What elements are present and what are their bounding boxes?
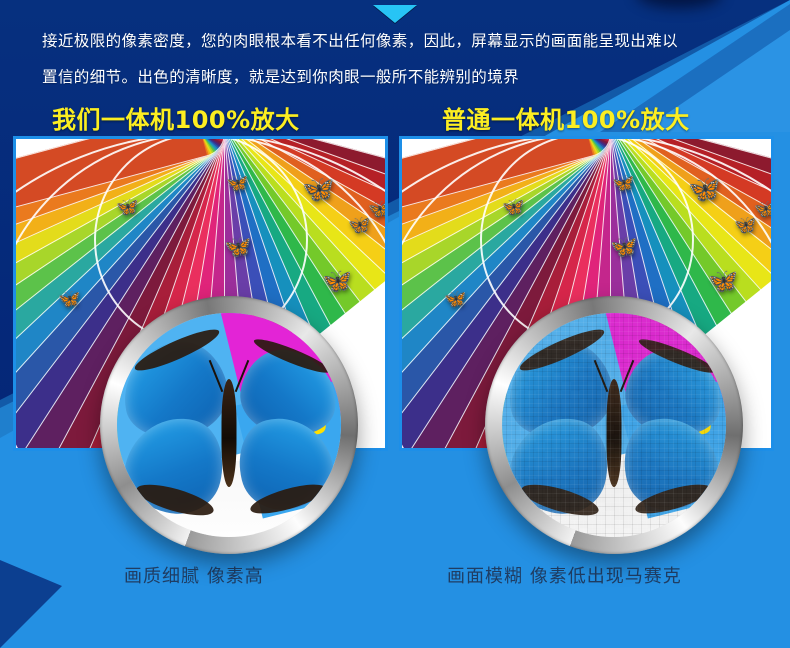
mosaic-cell <box>657 347 666 356</box>
mosaic-cell <box>657 339 666 348</box>
mosaic-cell <box>640 365 649 374</box>
mosaic-cell <box>554 425 563 434</box>
mosaic-cell <box>623 477 632 486</box>
mosaic-cell <box>519 511 528 520</box>
mosaic-cell <box>511 434 520 443</box>
mosaic-cell <box>709 434 718 443</box>
mosaic-cell <box>640 451 649 460</box>
mosaic-cell <box>545 494 554 503</box>
mosaic-cell <box>640 494 649 503</box>
mosaic-cell <box>588 494 597 503</box>
mosaic-cell <box>605 399 614 408</box>
mosaic-cell <box>640 442 649 451</box>
mosaic-cell <box>597 373 606 382</box>
mosaic-cell <box>511 416 520 425</box>
mosaic-cell <box>588 382 597 391</box>
mosaic-cell <box>580 451 589 460</box>
butterfly-green-icon: 🦋 <box>688 177 720 203</box>
mosaic-cell <box>700 459 709 468</box>
mosaic-cell <box>666 313 675 322</box>
mosaic-cell <box>528 511 537 520</box>
mosaic-cell <box>692 494 701 503</box>
mosaic-cell <box>588 511 597 520</box>
mosaic-cell <box>554 391 563 400</box>
mosaic-cell <box>614 339 623 348</box>
mosaic-cell <box>709 511 718 520</box>
mosaic-cell <box>717 511 726 520</box>
mosaic-cell <box>605 313 614 322</box>
mosaic-cell <box>588 468 597 477</box>
mosaic-cell <box>648 356 657 365</box>
mosaic-cell <box>674 434 683 443</box>
mosaic-cell <box>614 373 623 382</box>
mosaic-cell <box>605 451 614 460</box>
mosaic-cell <box>640 339 649 348</box>
mosaic-cell <box>623 382 632 391</box>
mosaic-cell <box>674 373 683 382</box>
mosaic-cell <box>648 503 657 512</box>
mosaic-cell <box>562 322 571 331</box>
mosaic-cell <box>692 408 701 417</box>
mosaic-cell <box>648 425 657 434</box>
mosaic-cell <box>631 322 640 331</box>
mosaic-cell <box>502 494 511 503</box>
mosaic-cell <box>631 313 640 322</box>
mosaic-cell <box>614 347 623 356</box>
mosaic-cell <box>640 503 649 512</box>
mosaic-cell <box>717 477 726 486</box>
mosaic-cell <box>657 425 666 434</box>
butterfly-purple-icon: 🦋 <box>58 291 80 309</box>
mosaic-cell <box>528 382 537 391</box>
mosaic-cell <box>580 425 589 434</box>
mosaic-cell <box>536 313 545 322</box>
mosaic-cell <box>554 477 563 486</box>
mosaic-cell <box>692 477 701 486</box>
mosaic-cell <box>519 408 528 417</box>
mosaic-cell <box>657 520 666 529</box>
mosaic-cell <box>692 382 701 391</box>
mosaic-cell <box>692 511 701 520</box>
mosaic-cell <box>545 477 554 486</box>
mosaic-cell <box>554 399 563 408</box>
mosaic-cell <box>631 373 640 382</box>
mosaic-cell <box>683 365 692 374</box>
mosaic-cell <box>709 451 718 460</box>
mosaic-cell <box>511 451 520 460</box>
mosaic-cell <box>683 382 692 391</box>
mosaic-cell <box>674 365 683 374</box>
mosaic-cell <box>683 494 692 503</box>
mosaic-cell <box>683 503 692 512</box>
mosaic-cell <box>614 416 623 425</box>
mosaic-cell <box>700 391 709 400</box>
mosaic-cell <box>709 399 718 408</box>
mosaic-cell <box>519 416 528 425</box>
mosaic-cell <box>657 459 666 468</box>
mosaic-cell <box>536 416 545 425</box>
mosaic-cell <box>648 330 657 339</box>
mosaic-cell <box>580 313 589 322</box>
mosaic-cell <box>692 468 701 477</box>
mosaic-cell <box>631 451 640 460</box>
mosaic-cell <box>554 313 563 322</box>
mosaic-cell <box>545 399 554 408</box>
mosaic-cell <box>511 485 520 494</box>
mosaic-cell <box>545 528 554 537</box>
mosaic-cell <box>700 408 709 417</box>
mosaic-cell <box>511 520 520 529</box>
mosaic-cell <box>614 528 623 537</box>
mosaic-cell <box>528 459 537 468</box>
mosaic-cell <box>683 339 692 348</box>
mosaic-cell <box>640 528 649 537</box>
mosaic-cell <box>709 408 718 417</box>
mosaic-cell <box>554 494 563 503</box>
mosaic-cell <box>511 347 520 356</box>
mosaic-cell <box>571 399 580 408</box>
mosaic-cell <box>571 520 580 529</box>
mosaic-cell <box>545 468 554 477</box>
headline-line-2: 置信的细节。出色的清晰度，就是达到你肉眼一般所不能辨别的境界 <box>42 59 760 95</box>
mosaic-cell <box>571 434 580 443</box>
mosaic-cell <box>536 391 545 400</box>
mosaic-cell <box>692 313 701 322</box>
mosaic-cell <box>631 365 640 374</box>
lens-butterfly-blue-icon <box>121 339 337 519</box>
mosaic-cell <box>511 528 520 537</box>
mosaic-cell <box>554 330 563 339</box>
mosaic-cell <box>717 391 726 400</box>
mosaic-overlay <box>502 313 726 537</box>
mosaic-cell <box>666 459 675 468</box>
mosaic-cell <box>597 365 606 374</box>
butterfly-yellow2-icon: 🦋 <box>502 199 524 217</box>
mosaic-cell <box>631 485 640 494</box>
mosaic-cell <box>588 322 597 331</box>
mosaic-cell <box>640 408 649 417</box>
mosaic-cell <box>519 330 528 339</box>
mosaic-cell <box>674 520 683 529</box>
mosaic-cell <box>545 330 554 339</box>
mosaic-cell <box>692 528 701 537</box>
mosaic-cell <box>640 425 649 434</box>
mosaic-cell <box>597 425 606 434</box>
mosaic-cell <box>588 356 597 365</box>
mosaic-cell <box>700 373 709 382</box>
mosaic-cell <box>528 503 537 512</box>
mosaic-cell <box>580 347 589 356</box>
mosaic-cell <box>657 528 666 537</box>
mosaic-cell <box>562 468 571 477</box>
mosaic-cell <box>700 477 709 486</box>
mosaic-cell <box>692 339 701 348</box>
butterfly-orange3-icon: 🦋 <box>754 201 771 219</box>
mosaic-cell <box>528 399 537 408</box>
mosaic-cell <box>717 485 726 494</box>
mosaic-cell <box>674 494 683 503</box>
mosaic-cell <box>597 356 606 365</box>
mosaic-cell <box>562 485 571 494</box>
mosaic-cell <box>519 322 528 331</box>
mosaic-cell <box>519 503 528 512</box>
mosaic-cell <box>580 373 589 382</box>
mosaic-cell <box>519 399 528 408</box>
mosaic-cell <box>536 408 545 417</box>
mosaic-cell <box>700 442 709 451</box>
mosaic-cell <box>674 313 683 322</box>
mosaic-cell <box>614 442 623 451</box>
mosaic-cell <box>717 434 726 443</box>
mosaic-cell <box>545 356 554 365</box>
mosaic-cell <box>717 416 726 425</box>
mosaic-cell <box>674 442 683 451</box>
mosaic-cell <box>562 313 571 322</box>
mosaic-cell <box>709 503 718 512</box>
mosaic-cell <box>674 322 683 331</box>
mosaic-cell <box>700 330 709 339</box>
mosaic-cell <box>536 356 545 365</box>
left-lens-glass <box>117 313 341 537</box>
mosaic-cell <box>519 459 528 468</box>
mosaic-cell <box>648 434 657 443</box>
mosaic-cell <box>571 528 580 537</box>
mosaic-cell <box>614 451 623 460</box>
mosaic-cell <box>571 468 580 477</box>
mosaic-cell <box>528 330 537 339</box>
mosaic-cell <box>623 494 632 503</box>
mosaic-cell <box>666 399 675 408</box>
mosaic-cell <box>545 347 554 356</box>
mosaic-cell <box>502 434 511 443</box>
mosaic-cell <box>562 511 571 520</box>
mosaic-cell <box>571 477 580 486</box>
butterfly-purple-icon: 🦋 <box>444 291 466 309</box>
mosaic-cell <box>502 399 511 408</box>
mosaic-cell <box>554 339 563 348</box>
mosaic-cell <box>519 494 528 503</box>
magnifier-lens-icon-right <box>485 296 743 554</box>
mosaic-cell <box>545 425 554 434</box>
mosaic-cell <box>700 520 709 529</box>
mosaic-cell <box>528 408 537 417</box>
mosaic-cell <box>536 485 545 494</box>
mosaic-cell <box>640 485 649 494</box>
mosaic-cell <box>588 339 597 348</box>
mosaic-cell <box>700 339 709 348</box>
mosaic-cell <box>623 365 632 374</box>
mosaic-cell <box>528 494 537 503</box>
mosaic-cell <box>709 391 718 400</box>
mosaic-cell <box>605 330 614 339</box>
mosaic-cell <box>605 356 614 365</box>
mosaic-cell <box>545 459 554 468</box>
mosaic-cell <box>666 382 675 391</box>
mosaic-cell <box>597 347 606 356</box>
mosaic-cell <box>511 425 520 434</box>
mosaic-cell <box>580 408 589 417</box>
mosaic-cell <box>700 494 709 503</box>
mosaic-cell <box>674 528 683 537</box>
mosaic-cell <box>648 416 657 425</box>
mosaic-cell <box>554 347 563 356</box>
mosaic-cell <box>640 330 649 339</box>
mosaic-cell <box>502 468 511 477</box>
mosaic-cell <box>554 442 563 451</box>
mosaic-cell <box>717 339 726 348</box>
mosaic-cell <box>580 468 589 477</box>
mosaic-cell <box>528 528 537 537</box>
mosaic-cell <box>717 520 726 529</box>
mosaic-cell <box>588 425 597 434</box>
mosaic-cell <box>631 528 640 537</box>
mosaic-cell <box>571 494 580 503</box>
mosaic-cell <box>511 330 520 339</box>
mosaic-cell <box>528 468 537 477</box>
mosaic-cell <box>597 322 606 331</box>
mosaic-cell <box>700 468 709 477</box>
mosaic-cell <box>562 356 571 365</box>
mosaic-cell <box>657 322 666 331</box>
mosaic-cell <box>648 494 657 503</box>
mosaic-cell <box>614 330 623 339</box>
mosaic-cell <box>666 425 675 434</box>
mosaic-cell <box>692 399 701 408</box>
mosaic-cell <box>571 442 580 451</box>
mosaic-cell <box>545 408 554 417</box>
right-panel-title: 普通一体机100%放大 <box>442 100 690 135</box>
mosaic-cell <box>580 330 589 339</box>
mosaic-cell <box>631 399 640 408</box>
mosaic-cell <box>562 330 571 339</box>
mosaic-cell <box>709 322 718 331</box>
mosaic-cell <box>588 373 597 382</box>
mosaic-cell <box>588 528 597 537</box>
mosaic-cell <box>502 365 511 374</box>
mosaic-cell <box>648 528 657 537</box>
mosaic-cell <box>709 416 718 425</box>
mosaic-cell <box>717 442 726 451</box>
mosaic-cell <box>536 468 545 477</box>
headline-line-1: 接近极限的像素密度，您的肉眼根本看不出任何像素，因此，屏幕显示的画面能呈现出难以 <box>42 23 760 59</box>
mosaic-cell <box>614 408 623 417</box>
mosaic-cell <box>614 477 623 486</box>
mosaic-cell <box>709 459 718 468</box>
mosaic-cell <box>640 356 649 365</box>
mosaic-cell <box>554 451 563 460</box>
mosaic-cell <box>614 485 623 494</box>
mosaic-cell <box>562 399 571 408</box>
mosaic-cell <box>519 520 528 529</box>
mosaic-cell <box>623 434 632 443</box>
mosaic-cell <box>640 468 649 477</box>
mosaic-cell <box>571 330 580 339</box>
mosaic-cell <box>717 408 726 417</box>
butterfly-orange3-icon: 🦋 <box>368 201 385 219</box>
left-panel-title: 我们一体机100%放大 <box>52 100 300 135</box>
mosaic-cell <box>683 477 692 486</box>
mosaic-cell <box>648 485 657 494</box>
mosaic-cell <box>640 391 649 400</box>
mosaic-cell <box>614 434 623 443</box>
mosaic-cell <box>700 511 709 520</box>
mosaic-cell <box>614 459 623 468</box>
mosaic-cell <box>588 434 597 443</box>
mosaic-cell <box>700 382 709 391</box>
mosaic-cell <box>605 347 614 356</box>
mosaic-cell <box>709 382 718 391</box>
mosaic-cell <box>528 365 537 374</box>
mosaic-cell <box>554 485 563 494</box>
magnifier-lens-icon-left <box>100 296 358 554</box>
mosaic-cell <box>640 511 649 520</box>
mosaic-cell <box>597 494 606 503</box>
mosaic-cell <box>657 391 666 400</box>
mosaic-cell <box>588 520 597 529</box>
mosaic-cell <box>674 382 683 391</box>
mosaic-cell <box>700 425 709 434</box>
mosaic-cell <box>683 373 692 382</box>
mosaic-cell <box>511 408 520 417</box>
mosaic-cell <box>648 520 657 529</box>
mosaic-cell <box>709 425 718 434</box>
mosaic-cell <box>614 468 623 477</box>
butterfly-yellow3-icon: 🦋 <box>226 175 248 193</box>
mosaic-cell <box>511 391 520 400</box>
butterfly-orange-icon: 🦋 <box>322 269 352 293</box>
mosaic-cell <box>545 451 554 460</box>
mosaic-cell <box>597 442 606 451</box>
mosaic-cell <box>657 468 666 477</box>
mosaic-cell <box>666 347 675 356</box>
mosaic-cell <box>709 339 718 348</box>
mosaic-cell <box>648 382 657 391</box>
mosaic-cell <box>571 485 580 494</box>
mosaic-cell <box>631 330 640 339</box>
mosaic-cell <box>502 382 511 391</box>
mosaic-cell <box>571 356 580 365</box>
mosaic-cell <box>623 442 632 451</box>
mosaic-cell <box>623 339 632 348</box>
mosaic-cell <box>588 347 597 356</box>
mosaic-cell <box>657 434 666 443</box>
mosaic-cell <box>545 503 554 512</box>
mosaic-cell <box>709 330 718 339</box>
mosaic-cell <box>631 356 640 365</box>
mosaic-cell <box>674 451 683 460</box>
mosaic-cell <box>623 520 632 529</box>
mosaic-cell <box>588 391 597 400</box>
mosaic-cell <box>631 468 640 477</box>
mosaic-cell <box>597 528 606 537</box>
mosaic-cell <box>666 322 675 331</box>
mosaic-cell <box>580 416 589 425</box>
mosaic-cell <box>700 313 709 322</box>
mosaic-cell <box>666 434 675 443</box>
mosaic-cell <box>502 408 511 417</box>
mosaic-cell <box>614 511 623 520</box>
mosaic-cell <box>562 434 571 443</box>
mosaic-cell <box>648 313 657 322</box>
mosaic-cell <box>554 520 563 529</box>
mosaic-cell <box>605 416 614 425</box>
mosaic-cell <box>709 347 718 356</box>
mosaic-cell <box>536 494 545 503</box>
mosaic-cell <box>605 468 614 477</box>
mosaic-cell <box>692 485 701 494</box>
mosaic-cell <box>674 511 683 520</box>
mosaic-cell <box>605 339 614 348</box>
